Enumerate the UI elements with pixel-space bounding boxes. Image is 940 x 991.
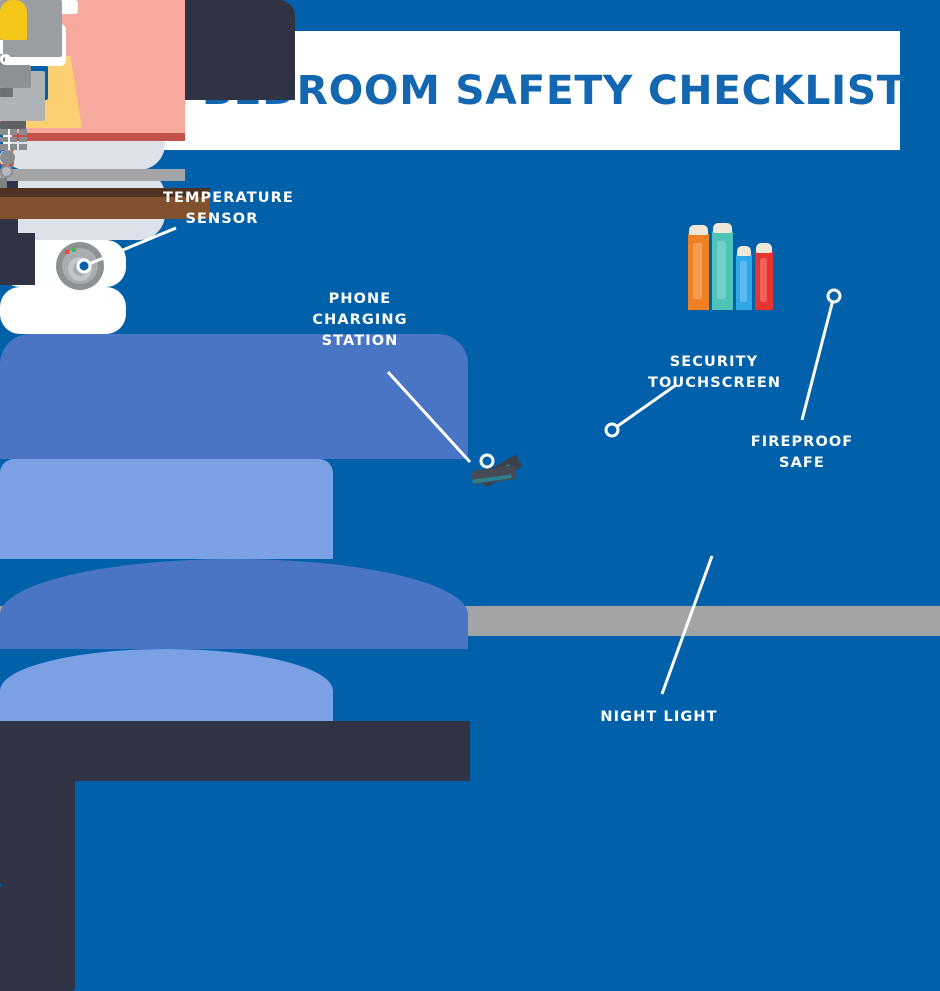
book-orange <box>688 232 709 310</box>
book-stripe <box>740 261 747 302</box>
safe-key <box>19 129 27 135</box>
label-night-light: NIGHT LIGHT <box>592 707 726 728</box>
label-security-touchscreen: SECURITY TOUCHSCREEN <box>648 352 780 394</box>
book-stripe <box>760 258 768 301</box>
sensor-led-green <box>72 248 76 252</box>
safe-key <box>0 129 8 135</box>
blanket <box>0 334 468 459</box>
label-phone-charging-station: PHONE CHARGING STATION <box>300 289 420 352</box>
blanket-curve-inner <box>0 649 333 721</box>
safe-key <box>19 137 27 143</box>
nightstand-leg-right <box>0 233 35 285</box>
book-stripe <box>693 243 702 299</box>
safe-dial <box>0 150 15 165</box>
bed-frame <box>0 721 470 781</box>
night-light <box>0 0 31 97</box>
book-pages <box>689 225 708 235</box>
safe-key <box>10 137 18 143</box>
safe-key <box>0 137 8 143</box>
blanket-top-panel <box>0 459 333 559</box>
book-pages <box>737 246 751 256</box>
safe-display <box>0 121 26 129</box>
bed-leg-right <box>0 886 75 991</box>
book-teal <box>712 230 733 310</box>
wall-shelf <box>0 0 210 219</box>
pillow-right <box>0 287 126 334</box>
leader-fireproof-safe <box>802 296 834 420</box>
book-red <box>755 250 773 310</box>
safe-key <box>0 144 8 150</box>
fireproof-safe <box>0 0 210 188</box>
temperature-sensor <box>56 242 104 290</box>
safe-key <box>19 144 27 150</box>
label-fireproof-safe: FIREPROOF SAFE <box>742 432 862 474</box>
book-pages <box>713 223 732 233</box>
infographic-canvas: MASTER BEDROOM SAFETY CHECKLIST <box>0 0 940 788</box>
safe-key <box>10 144 18 150</box>
safe-keypad <box>0 129 27 150</box>
book-lightblue <box>736 253 752 310</box>
book-pages <box>756 243 772 253</box>
night-light-glyph-ring <box>0 54 11 65</box>
blanket-curve <box>0 559 468 649</box>
label-temperature-sensor: TEMPERATURE SENSOR <box>163 188 281 230</box>
safe-handle <box>0 165 13 178</box>
leader-dot-security-touchscreen <box>606 424 618 436</box>
sensor-led-red <box>65 250 69 254</box>
book-stripe <box>717 241 726 299</box>
safe-key <box>10 129 18 135</box>
sensor-core <box>73 262 87 276</box>
night-light-glyph-stem <box>0 40 3 54</box>
bed-leg-left <box>0 781 75 886</box>
night-light-base <box>0 65 31 88</box>
phone-charging-dock <box>470 450 526 490</box>
leader-dot-fireproof-safe <box>828 290 840 302</box>
night-light-outlet-slot <box>0 88 13 97</box>
night-light-body <box>0 0 27 40</box>
